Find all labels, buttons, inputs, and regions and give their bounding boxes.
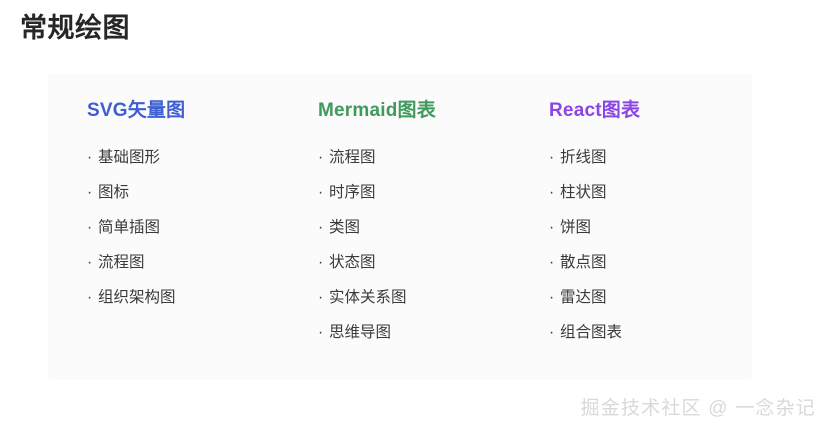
bullet-icon: ·	[87, 210, 98, 245]
category-column-mermaid: Mermaid图表 · 流程图 · 时序图 · 类图 ·	[279, 73, 510, 380]
bullet-icon: ·	[87, 140, 98, 175]
category-columns: SVG矢量图 · 基础图形 · 图标 · 简单插图 ·	[48, 73, 752, 380]
list-item[interactable]: · 组合图表	[549, 315, 741, 350]
list-item-label: 散点图	[560, 245, 607, 280]
category-list-svg: · 基础图形 · 图标 · 简单插图 · 流程图	[87, 124, 279, 315]
bullet-icon: ·	[549, 175, 560, 210]
list-item-label: 组织架构图	[98, 280, 176, 315]
bullet-icon: ·	[87, 280, 98, 315]
category-column-svg: SVG矢量图 · 基础图形 · 图标 · 简单插图 ·	[48, 73, 279, 380]
list-item[interactable]: · 简单插图	[87, 210, 279, 245]
list-item[interactable]: · 时序图	[318, 175, 510, 210]
list-item[interactable]: · 状态图	[318, 245, 510, 280]
bullet-icon: ·	[549, 245, 560, 280]
category-column-react: React图表 · 折线图 · 柱状图 · 饼图 ·	[510, 73, 741, 380]
bullet-icon: ·	[318, 280, 329, 315]
watermark: 掘金技术社区 @ 一念杂记	[581, 393, 816, 420]
category-list-mermaid: · 流程图 · 时序图 · 类图 · 状态图	[318, 124, 510, 350]
bullet-icon: ·	[87, 245, 98, 280]
list-item[interactable]: · 柱状图	[549, 175, 741, 210]
bullet-icon: ·	[318, 315, 329, 350]
list-item-label: 雷达图	[560, 280, 607, 315]
slide-canvas: 常规绘图 SVG矢量图 · 基础图形 · 图标 · 简单插图	[0, 0, 834, 430]
list-item[interactable]: · 散点图	[549, 245, 741, 280]
bullet-icon: ·	[549, 140, 560, 175]
list-item-label: 思维导图	[329, 315, 391, 350]
list-item-label: 时序图	[329, 175, 376, 210]
list-item-label: 简单插图	[98, 210, 160, 245]
bullet-icon: ·	[318, 175, 329, 210]
bullet-icon: ·	[549, 315, 560, 350]
bullet-icon: ·	[318, 245, 329, 280]
list-item[interactable]: · 折线图	[549, 140, 741, 175]
list-item[interactable]: · 饼图	[549, 210, 741, 245]
list-item-label: 类图	[329, 210, 360, 245]
column-heading-svg: SVG矢量图	[87, 73, 279, 124]
list-item-label: 柱状图	[560, 175, 607, 210]
bullet-icon: ·	[318, 140, 329, 175]
list-item-label: 图标	[98, 175, 129, 210]
list-item-label: 状态图	[329, 245, 376, 280]
list-item[interactable]: · 流程图	[87, 245, 279, 280]
column-heading-react: React图表	[549, 73, 741, 124]
list-item-label: 组合图表	[560, 315, 622, 350]
list-item[interactable]: · 类图	[318, 210, 510, 245]
list-item-label: 流程图	[329, 140, 376, 175]
list-item[interactable]: · 组织架构图	[87, 280, 279, 315]
bullet-icon: ·	[549, 210, 560, 245]
list-item[interactable]: · 图标	[87, 175, 279, 210]
page-title: 常规绘图	[20, 11, 130, 46]
category-list-react: · 折线图 · 柱状图 · 饼图 · 散点图	[549, 124, 741, 350]
list-item-label: 基础图形	[98, 140, 160, 175]
list-item[interactable]: · 流程图	[318, 140, 510, 175]
list-item[interactable]: · 雷达图	[549, 280, 741, 315]
list-item-label: 饼图	[560, 210, 591, 245]
list-item-label: 实体关系图	[329, 280, 407, 315]
list-item[interactable]: · 实体关系图	[318, 280, 510, 315]
content-panel: SVG矢量图 · 基础图形 · 图标 · 简单插图 ·	[48, 73, 752, 380]
list-item-label: 折线图	[560, 140, 607, 175]
bullet-icon: ·	[87, 175, 98, 210]
column-heading-mermaid: Mermaid图表	[318, 73, 510, 124]
bullet-icon: ·	[318, 210, 329, 245]
list-item[interactable]: · 基础图形	[87, 140, 279, 175]
list-item-label: 流程图	[98, 245, 145, 280]
bullet-icon: ·	[549, 280, 560, 315]
list-item[interactable]: · 思维导图	[318, 315, 510, 350]
